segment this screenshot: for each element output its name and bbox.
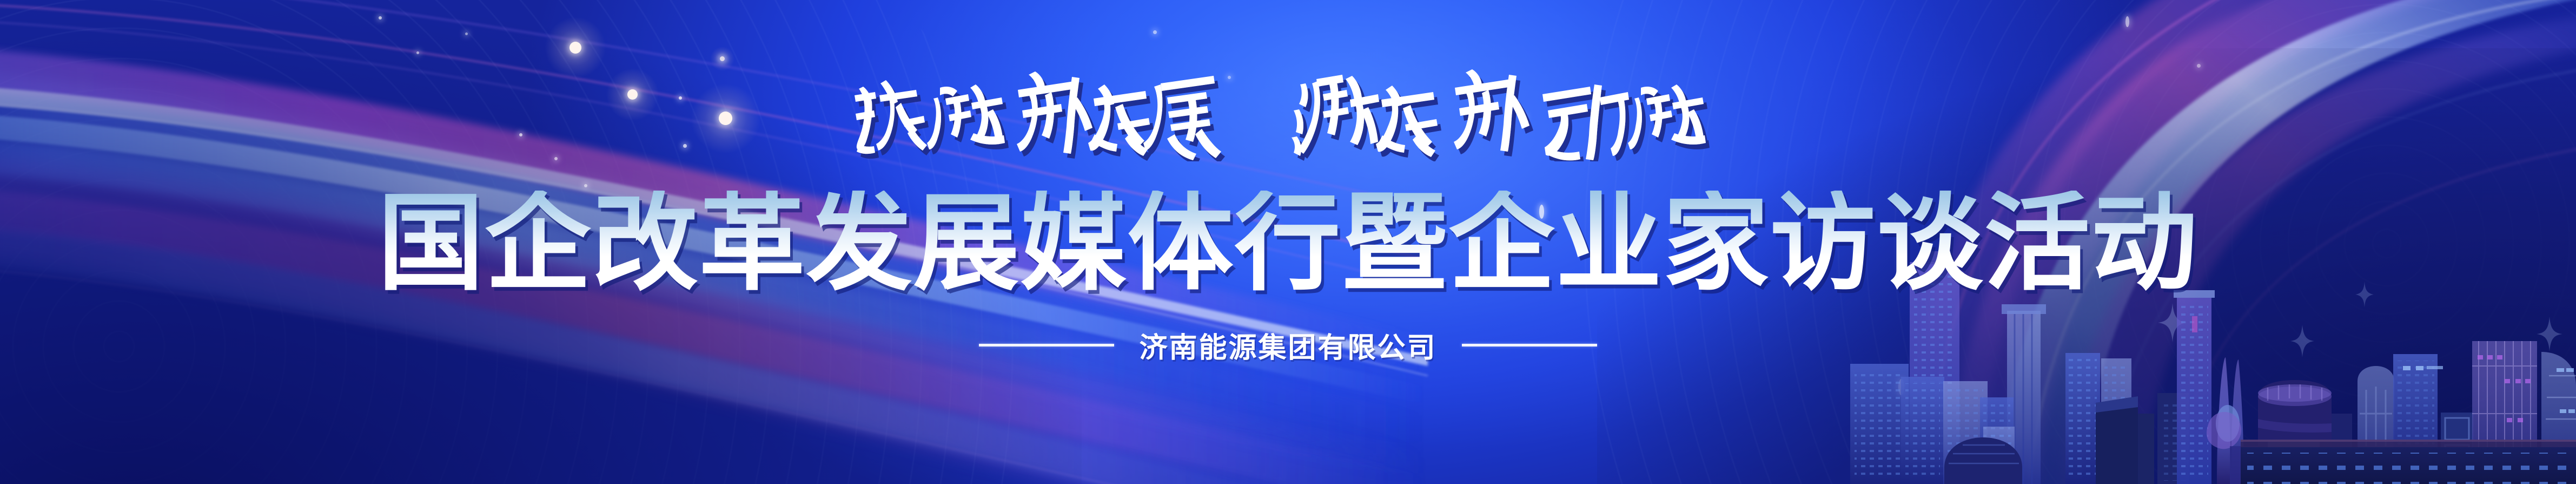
subtitle-row: 济南能源集团有限公司 [0,325,2576,365]
organization-name: 济南能源集团有限公司 [1139,325,1436,365]
page-title: 国企改革发展媒体行暨企业家访谈活动 [0,191,2576,297]
rule-right [1462,344,1597,346]
rule-left [979,344,1114,346]
calligraphy-headline: 赋能新发展 激发新动能 [0,64,2576,161]
main-title-text: 国企改革发展媒体行暨企业家访谈活动 [378,191,2198,297]
calligraphy-svg: 赋能新发展 激发新动能 [845,64,1732,161]
event-banner: 赋能新发展 激发新动能 [0,0,2576,484]
banner-content: 赋能新发展 激发新动能 [0,0,2576,484]
